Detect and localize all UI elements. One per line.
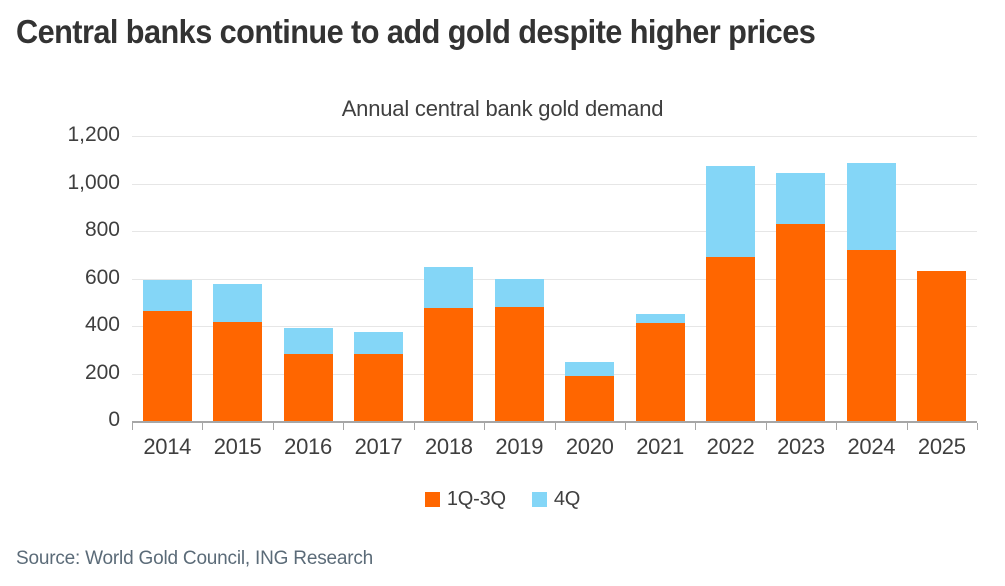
y-axis-tick-label: 200	[10, 361, 120, 385]
bar-group[interactable]	[636, 136, 685, 421]
bar-segment-1q-3q[interactable]	[143, 311, 192, 421]
bar-segment-1q-3q[interactable]	[776, 224, 825, 421]
x-axis-tickmark	[695, 423, 696, 430]
x-axis-tickmark	[343, 423, 344, 430]
x-axis-tick-label: 2024	[836, 434, 906, 460]
x-axis-tickmark	[625, 423, 626, 430]
bar-segment-1q-3q[interactable]	[636, 323, 685, 421]
x-axis-tickmark	[484, 423, 485, 430]
x-axis-tick-labels: 2014201520162017201820192020202120222023…	[132, 434, 977, 468]
legend-item[interactable]: 4Q	[532, 488, 580, 511]
bar-segment-4q[interactable]	[284, 328, 333, 353]
legend-item-label: 4Q	[554, 488, 580, 511]
x-axis-tick-label: 2014	[132, 434, 202, 460]
x-axis-tickmark	[766, 423, 767, 430]
y-axis-tick-label: 0	[10, 408, 120, 432]
plot-area	[132, 136, 977, 421]
x-axis-tick-label: 2017	[343, 434, 413, 460]
y-axis-tick-label: 600	[10, 266, 120, 290]
x-axis-tickmark	[132, 423, 133, 430]
bar-segment-1q-3q[interactable]	[495, 307, 544, 421]
bar-group[interactable]	[424, 136, 473, 421]
x-axis-tickmark	[414, 423, 415, 430]
bar-segment-1q-3q[interactable]	[213, 322, 262, 421]
x-axis-tick-label: 2023	[766, 434, 836, 460]
legend-item-label: 1Q-3Q	[447, 488, 506, 511]
bar-group[interactable]	[847, 136, 896, 421]
y-axis-tick-label: 1,200	[10, 123, 120, 147]
bar-segment-1q-3q[interactable]	[847, 250, 896, 421]
x-axis-tick-label: 2019	[484, 434, 554, 460]
square-swatch-icon	[532, 492, 547, 507]
x-axis-tick-label: 2025	[907, 434, 977, 460]
x-axis-tick-label: 2015	[202, 434, 272, 460]
x-axis-tickmark	[836, 423, 837, 430]
x-axis-tick-label: 2016	[273, 434, 343, 460]
bar-segment-4q[interactable]	[565, 362, 614, 376]
bar-group[interactable]	[495, 136, 544, 421]
bar-group[interactable]	[776, 136, 825, 421]
bar-segment-1q-3q[interactable]	[565, 376, 614, 421]
bar-segment-1q-3q[interactable]	[424, 308, 473, 421]
x-axis-tickmark	[202, 423, 203, 430]
page-title: Central banks continue to add gold despi…	[16, 14, 909, 50]
x-axis-tick-label: 2018	[414, 434, 484, 460]
bar-segment-4q[interactable]	[847, 163, 896, 250]
bar-group[interactable]	[706, 136, 755, 421]
bar-segment-4q[interactable]	[143, 280, 192, 311]
x-axis-tickmark	[977, 423, 978, 430]
legend-item[interactable]: 1Q-3Q	[425, 488, 506, 511]
x-axis-tickmark	[273, 423, 274, 430]
y-axis-tick-label: 400	[10, 313, 120, 337]
y-axis-tick-label: 1,000	[10, 171, 120, 195]
bar-group[interactable]	[354, 136, 403, 421]
bar-group[interactable]	[213, 136, 262, 421]
bar-segment-1q-3q[interactable]	[354, 354, 403, 421]
x-axis-tick-label: 2022	[695, 434, 765, 460]
x-axis-tick-label: 2021	[625, 434, 695, 460]
x-axis-tickmark	[555, 423, 556, 430]
bar-segment-4q[interactable]	[776, 173, 825, 224]
chart-subtitle: Annual central bank gold demand	[0, 96, 1005, 122]
square-swatch-icon	[425, 492, 440, 507]
x-axis-tick-label: 2020	[555, 434, 625, 460]
y-axis-tick-label: 800	[10, 218, 120, 242]
bar-segment-4q[interactable]	[636, 314, 685, 323]
bar-group[interactable]	[284, 136, 333, 421]
chart-legend: 1Q-3Q4Q	[0, 488, 1005, 511]
bar-group[interactable]	[143, 136, 192, 421]
chart-figure: Central banks continue to add gold despi…	[0, 0, 1005, 586]
bar-group[interactable]	[565, 136, 614, 421]
source-note: Source: World Gold Council, ING Research	[16, 548, 373, 570]
bar-segment-4q[interactable]	[354, 332, 403, 353]
bar-segment-4q[interactable]	[706, 166, 755, 257]
bar-group[interactable]	[917, 136, 966, 421]
x-axis-tickmark	[907, 423, 908, 430]
bar-segment-1q-3q[interactable]	[917, 271, 966, 421]
y-axis-tick-labels: 02004006008001,0001,200	[8, 136, 120, 421]
bar-segment-1q-3q[interactable]	[706, 257, 755, 421]
bar-segment-4q[interactable]	[213, 284, 262, 323]
bar-segment-4q[interactable]	[424, 267, 473, 309]
bar-segment-1q-3q[interactable]	[284, 354, 333, 421]
bar-segment-4q[interactable]	[495, 279, 544, 308]
